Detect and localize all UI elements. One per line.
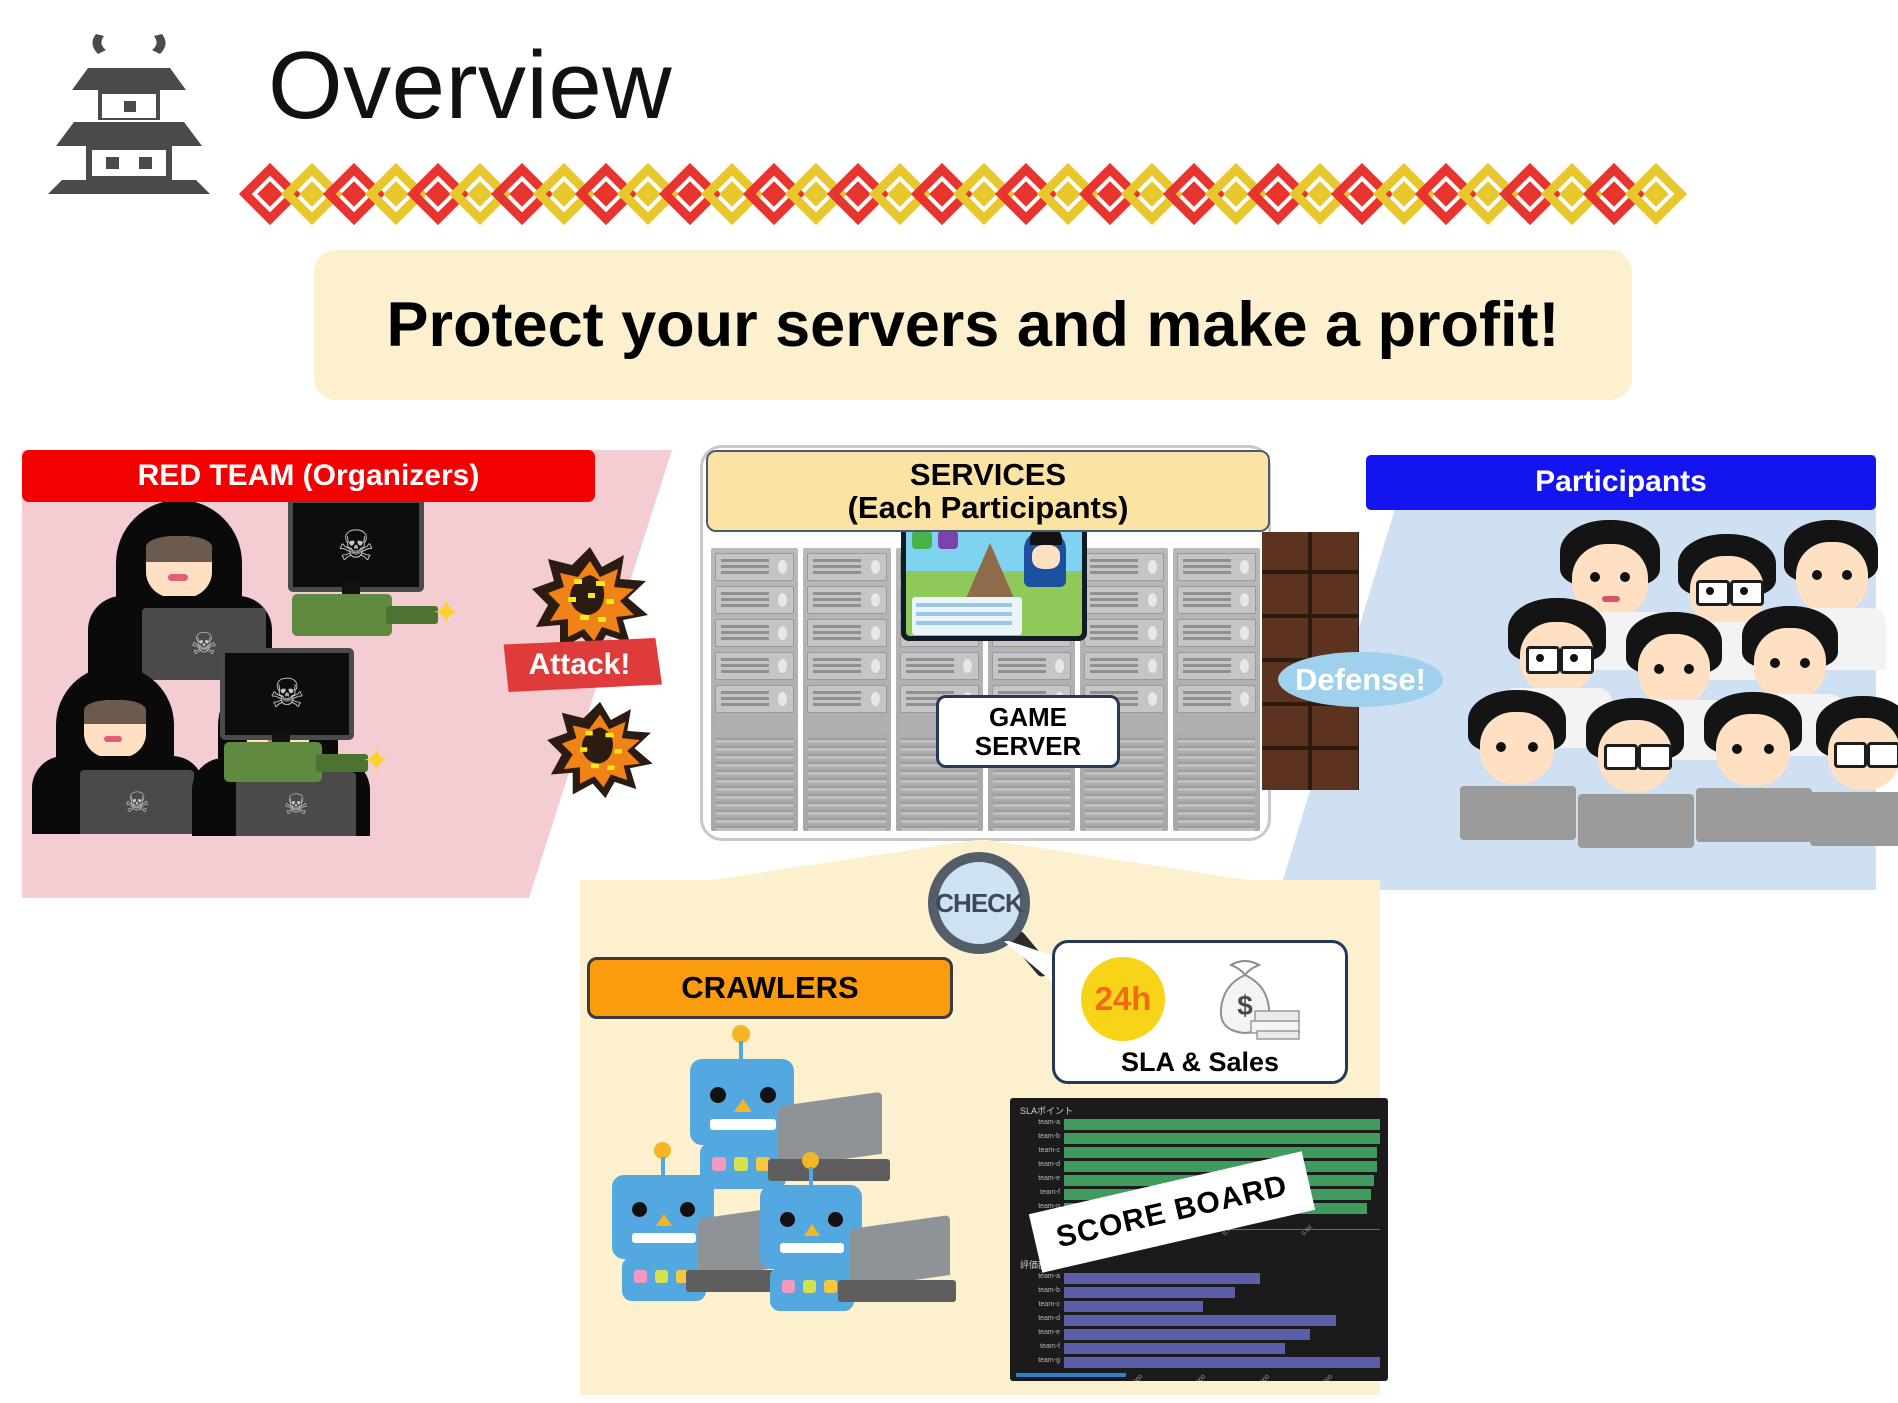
services-label-line2: (Each Participants) xyxy=(848,491,1129,524)
game-server-label-line1: GAME xyxy=(989,703,1067,731)
decorative-diamond-divider xyxy=(248,168,1868,220)
chart-y-label: team-e xyxy=(1038,1329,1060,1336)
skull-monitor-cannon: ☠ ✦ xyxy=(202,648,392,778)
chart-y-label: team-c xyxy=(1039,1147,1060,1154)
check-text: CHECK xyxy=(928,852,1030,954)
chart-bar-row: team-f xyxy=(1064,1343,1380,1354)
chart-bar xyxy=(1064,1343,1285,1354)
chart-y-label: team-g xyxy=(1038,1357,1060,1364)
scroll-indicator[interactable] xyxy=(1016,1373,1126,1377)
game-server-label-line2: SERVER xyxy=(975,732,1081,760)
chart-bar xyxy=(1064,1329,1310,1340)
explosion-icon xyxy=(545,700,655,805)
chart-y-label: team-b xyxy=(1038,1133,1060,1140)
chart-bar-row: team-b xyxy=(1064,1133,1380,1144)
money-bag-icon: $ xyxy=(1195,959,1303,1041)
chart-y-label: team-b xyxy=(1038,1287,1060,1294)
chart-bar xyxy=(1064,1133,1380,1144)
chart-y-label: team-e xyxy=(1038,1175,1060,1182)
24h-badge-icon: 24h xyxy=(1081,957,1165,1041)
chart-bar-row: team-b xyxy=(1064,1287,1380,1298)
sla-sales-caption: SLA & Sales xyxy=(1055,1047,1345,1078)
chart-bar-row: team-a xyxy=(1064,1273,1380,1284)
crawler-robot xyxy=(728,1152,954,1322)
chart-bar-row: team-g xyxy=(1064,1357,1380,1368)
chart-y-label: team-d xyxy=(1038,1161,1060,1168)
page-title: Overview xyxy=(268,38,672,134)
chart-y-label: team-f xyxy=(1040,1343,1060,1350)
chart-bar xyxy=(1064,1357,1380,1368)
chart-bar-row: team-c xyxy=(1064,1301,1380,1312)
chart-bar xyxy=(1064,1315,1336,1326)
chart-title-sla: SLAポイント xyxy=(1020,1104,1388,1117)
sla-sales-bubble: 24h $ SLA & Sales xyxy=(1052,940,1348,1084)
red-team-label: RED TEAM (Organizers) xyxy=(22,450,595,502)
chart-bar-row: team-c xyxy=(1064,1147,1380,1158)
participants-label: Participants xyxy=(1366,455,1876,510)
headline-banner: Protect your servers and make a profit! xyxy=(314,250,1632,400)
chart-bar xyxy=(1064,1147,1377,1158)
chart-y-label: team-d xyxy=(1038,1315,1060,1322)
server-rack xyxy=(803,548,890,831)
crawlers-label: CRAWLERS xyxy=(587,957,953,1019)
chart-bar-row: team-a xyxy=(1064,1119,1380,1130)
check-magnifier-icon: CHECK xyxy=(928,852,1030,954)
diamond-ornament xyxy=(1634,172,1678,216)
chart-y-label: team-f xyxy=(1040,1189,1060,1196)
chart-bar-row: team-d xyxy=(1064,1315,1380,1326)
server-rack xyxy=(711,548,798,831)
chart-bar xyxy=(1064,1301,1203,1312)
chart-bar xyxy=(1064,1273,1260,1284)
chart-valuation: team-ateam-bteam-cteam-dteam-eteam-fteam… xyxy=(1064,1273,1380,1381)
chart-bar xyxy=(1064,1287,1235,1298)
headline-text: Protect your servers and make a profit! xyxy=(387,289,1560,361)
chart-bar xyxy=(1064,1119,1380,1130)
server-rack xyxy=(1080,548,1167,831)
attack-bubble: Attack! xyxy=(497,638,662,692)
svg-text:$: $ xyxy=(1237,990,1253,1021)
services-label-line1: SERVICES xyxy=(910,458,1066,491)
services-label: SERVICES (Each Participants) xyxy=(706,450,1270,532)
game-server-label: GAME SERVER xyxy=(936,695,1120,768)
chart-y-label: team-a xyxy=(1038,1273,1060,1280)
chart-bar-row: team-e xyxy=(1064,1329,1380,1340)
defense-bubble: Defense! xyxy=(1278,652,1443,707)
castle-icon xyxy=(44,22,214,194)
skull-monitor-cannon: ☠ ✦ xyxy=(270,498,460,628)
server-rack xyxy=(1173,548,1260,831)
chart-y-label: team-c xyxy=(1039,1301,1060,1308)
chart-y-label: team-a xyxy=(1038,1119,1060,1126)
participants-crowd xyxy=(1350,520,1880,890)
